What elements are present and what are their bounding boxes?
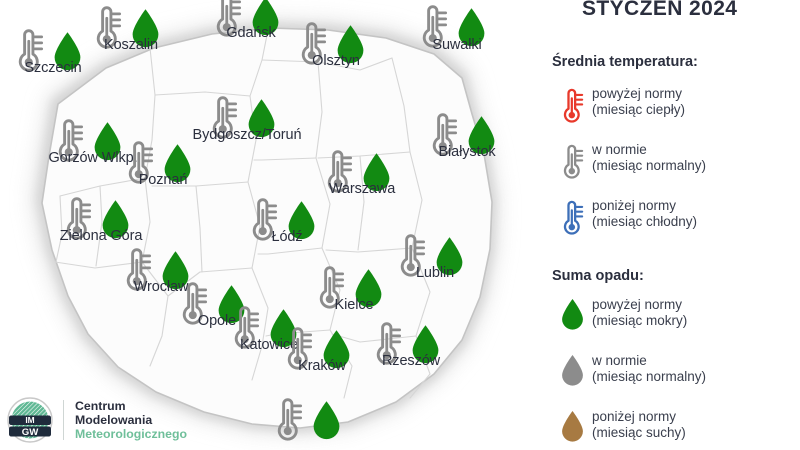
thermometer-icon xyxy=(560,87,584,124)
station-marker-kielce[interactable]: Kielce xyxy=(315,264,393,316)
station-marker-szczecin[interactable]: Szczecin xyxy=(14,27,92,79)
legend-heading-temperature: Średnia temperatura: xyxy=(552,54,698,70)
legend-item-cold: poniżej normy(miesiąc chłodny) xyxy=(552,198,697,236)
droplet-icon xyxy=(560,298,585,331)
droplet-icon xyxy=(552,409,592,443)
station-marker-d[interactable]: Łódź xyxy=(248,196,326,248)
station-label: Kielce xyxy=(335,297,374,313)
legend-item-warm: powyżej normy(miesiąc ciepły) xyxy=(552,86,685,124)
station-marker-gorz-w-wlkp[interactable]: Gorzów Wlkp. xyxy=(54,117,132,169)
station-label: Koszalin xyxy=(104,37,158,53)
droplet-icon xyxy=(552,297,592,331)
thermometer-icon-wrap xyxy=(273,396,303,448)
legend-item-line2: (miesiąc mokry) xyxy=(592,313,687,329)
logo-line-1: Centrum xyxy=(75,399,187,413)
station-marker-gda-sk[interactable]: Gdańsk xyxy=(212,0,290,44)
legend-item-text: w normie(miesiąc normalny) xyxy=(592,353,706,385)
logo-divider xyxy=(63,400,64,440)
legend-item-normal: w normie(miesiąc normalny) xyxy=(552,142,706,180)
droplet-icon xyxy=(560,410,585,443)
legend-item-line2: (miesiąc normalny) xyxy=(592,369,706,385)
droplet-icon xyxy=(552,353,592,387)
station-label: Warszawa xyxy=(329,181,395,197)
droplet-icon xyxy=(311,400,342,441)
droplet-icon-wrap xyxy=(311,400,342,446)
station-label: Kraków xyxy=(298,358,346,374)
station-marker-koszalin[interactable]: Koszalin xyxy=(92,4,170,56)
station-label: Szczecin xyxy=(24,60,81,76)
legend-item-text: poniżej normy(miesiąc chłodny) xyxy=(592,198,697,230)
logo-line-3: Meteorologicznego xyxy=(75,427,187,441)
station-marker-bia-ystok[interactable]: Białystok xyxy=(428,111,506,163)
page-title: STYCZEŃ 2024 xyxy=(582,0,737,21)
legend-item-line2: (miesiąc normalny) xyxy=(592,158,706,174)
imgw-logo: IM GW Centrum Modelowania Meteorologiczn… xyxy=(6,396,187,444)
station-marker-lublin[interactable]: Lublin xyxy=(396,232,474,284)
logo-text: Centrum Modelowania Meteorologicznego xyxy=(75,399,187,442)
thermometer-icon xyxy=(273,396,303,443)
legend-panel: STYCZEŃ 2024 Średnia temperatura: powyże… xyxy=(530,0,800,450)
legend-item-line1: poniżej normy xyxy=(592,409,676,424)
thermometer-icon xyxy=(552,86,592,124)
legend-item-line1: w normie xyxy=(592,142,647,157)
poland-map-panel: SzczecinKoszalinGdańskOlsztynSuwałkiGorz… xyxy=(0,0,530,450)
legend-item-text: powyżej normy(miesiąc ciepły) xyxy=(592,86,685,118)
thermometer-icon xyxy=(552,142,592,180)
station-marker-warszawa[interactable]: Warszawa xyxy=(323,148,401,200)
legend-item-normal: w normie(miesiąc normalny) xyxy=(552,353,706,387)
legend-item-text: w normie(miesiąc normalny) xyxy=(592,142,706,174)
station-label: Poznań xyxy=(139,172,188,188)
legend-item-wet: powyżej normy(miesiąc mokry) xyxy=(552,297,687,331)
legend-item-dry: poniżej normy(miesiąc suchy) xyxy=(552,409,686,443)
legend-item-line1: poniżej normy xyxy=(592,198,676,213)
legend-item-line1: w normie xyxy=(592,353,647,368)
legend-item-line1: powyżej normy xyxy=(592,297,682,312)
legend-item-line2: (miesiąc chłodny) xyxy=(592,214,697,230)
imgw-logo-icon: IM GW xyxy=(6,396,54,444)
thermometer-icon xyxy=(560,143,584,180)
logo-badge-bottom: GW xyxy=(22,427,39,438)
station-marker-suwa-ki[interactable]: Suwałki xyxy=(418,3,496,55)
station-marker-bydgoszcz-toru[interactable]: Bydgoszcz/Toruń xyxy=(208,94,286,146)
droplet-icon xyxy=(560,354,585,387)
station-label: Łódź xyxy=(271,229,302,245)
station-label: Zielona Góra xyxy=(60,228,143,244)
station-label: Gdańsk xyxy=(226,25,275,41)
station-label: Lublin xyxy=(416,265,454,281)
logo-badge-top: IM xyxy=(25,415,34,425)
legend-item-line1: powyżej normy xyxy=(592,86,682,101)
station-label: Bydgoszcz/Toruń xyxy=(193,127,302,143)
legend-item-line2: (miesiąc ciepły) xyxy=(592,102,685,118)
logo-line-2: Modelowania xyxy=(75,413,187,427)
legend-heading-precipitation: Suma opadu: xyxy=(552,268,644,284)
thermometer-icon xyxy=(552,198,592,236)
legend-item-text: powyżej normy(miesiąc mokry) xyxy=(592,297,687,329)
station-marker-pozna[interactable]: Poznań xyxy=(124,139,202,191)
station-marker-unlabeled[interactable] xyxy=(273,396,351,448)
station-label: Rzeszów xyxy=(382,353,440,369)
station-marker-olsztyn[interactable]: Olsztyn xyxy=(297,20,375,72)
infographic-root: SzczecinKoszalinGdańskOlsztynSuwałkiGorz… xyxy=(0,0,800,450)
legend-item-text: poniżej normy(miesiąc suchy) xyxy=(592,409,686,441)
thermometer-icon xyxy=(560,199,584,236)
station-label: Białystok xyxy=(438,144,495,160)
station-label: Suwałki xyxy=(432,37,481,53)
station-marker-krak-w[interactable]: Kraków xyxy=(283,325,361,377)
station-marker-rzesz-w[interactable]: Rzeszów xyxy=(372,320,450,372)
station-label: Olsztyn xyxy=(312,53,360,69)
legend-item-line2: (miesiąc suchy) xyxy=(592,425,686,441)
station-marker-zielona-g-ra[interactable]: Zielona Góra xyxy=(62,195,140,247)
